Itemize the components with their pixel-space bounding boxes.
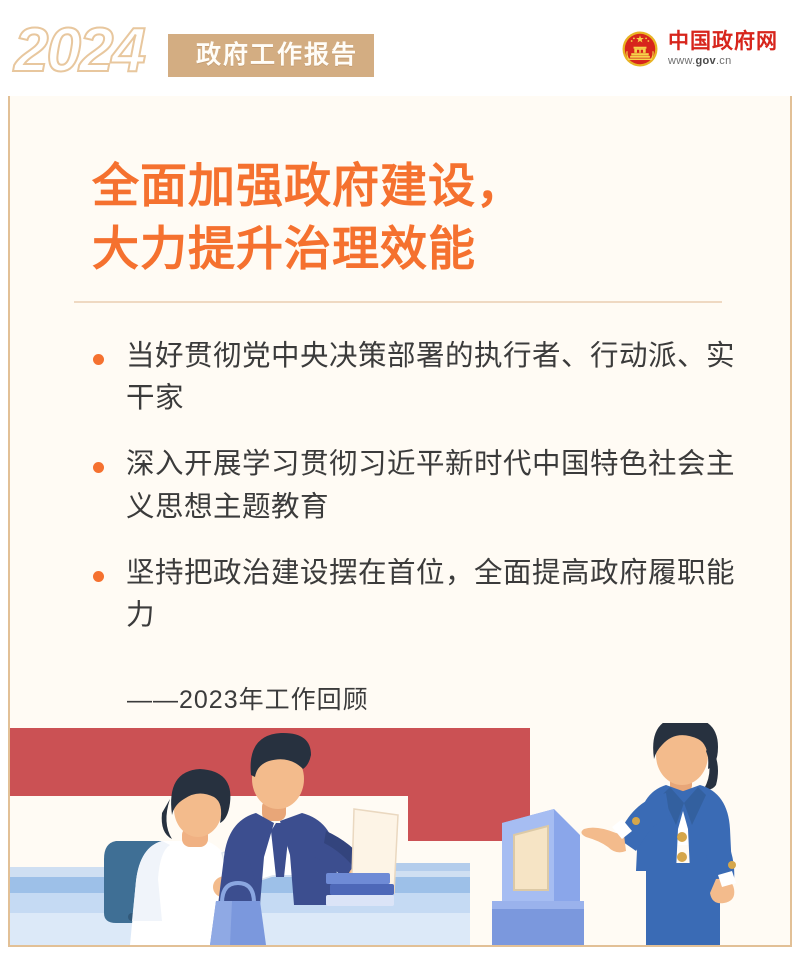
list-item: 深入开展学习贯彻习近平新时代中国特色社会主义思想主题教育 [82, 443, 742, 527]
page-title: 全面加强政府建设， 大力提升治理效能 [92, 155, 732, 280]
year-2024-outline: 2024 [14, 20, 144, 82]
title-line-1: 全面加强政府建设， [92, 155, 732, 218]
gov-site-name: 中国政府网 [668, 31, 778, 53]
gov-logo-text: 中国政府网 www.gov.cn [668, 31, 778, 66]
title-divider [74, 301, 722, 303]
poster-header: 2024 政府工作报告 [0, 0, 800, 96]
office-meeting-illustration [10, 723, 790, 945]
bullet-text-2: 深入开展学习贯彻习近平新时代中国特色社会主义思想主题教育 [126, 443, 742, 527]
report-title-badge: 政府工作报告 [168, 34, 374, 77]
bullet-text-1: 当好贯彻党中央决策部署的执行者、行动派、实干家 [126, 335, 742, 419]
stacked-books [326, 873, 394, 906]
title-line-2: 大力提升治理效能 [92, 218, 732, 281]
poster-frame: 全面加强政府建设， 大力提升治理效能 当好贯彻党中央决策部署的执行者、行动派、实… [8, 93, 792, 947]
source-attribution: ——2023年工作回顾 [127, 680, 369, 716]
bullet-list: 当好贯彻党中央决策部署的执行者、行动派、实干家 深入开展学习贯彻习近平新时代中国… [82, 335, 742, 636]
kiosk-terminal [492, 809, 584, 945]
bullet-dot-icon [93, 354, 104, 365]
bullet-dot-icon [93, 462, 104, 473]
bullet-text-3: 坚持把政治建设摆在首位，全面提高政府履职能力 [126, 552, 742, 636]
gov-cn-logo[interactable]: 中国政府网 www.gov.cn [621, 30, 778, 68]
gov-work-report-poster: 2024 政府工作报告 [0, 0, 800, 955]
list-item: 当好贯彻党中央决策部署的执行者、行动派、实干家 [82, 335, 742, 419]
china-national-emblem-icon [621, 30, 659, 68]
bullet-dot-icon [93, 571, 104, 582]
report-badge-label: 政府工作报告 [196, 43, 358, 68]
gov-site-url: www.gov.cn [668, 55, 778, 67]
list-item: 坚持把政治建设摆在首位，全面提高政府履职能力 [82, 552, 742, 636]
